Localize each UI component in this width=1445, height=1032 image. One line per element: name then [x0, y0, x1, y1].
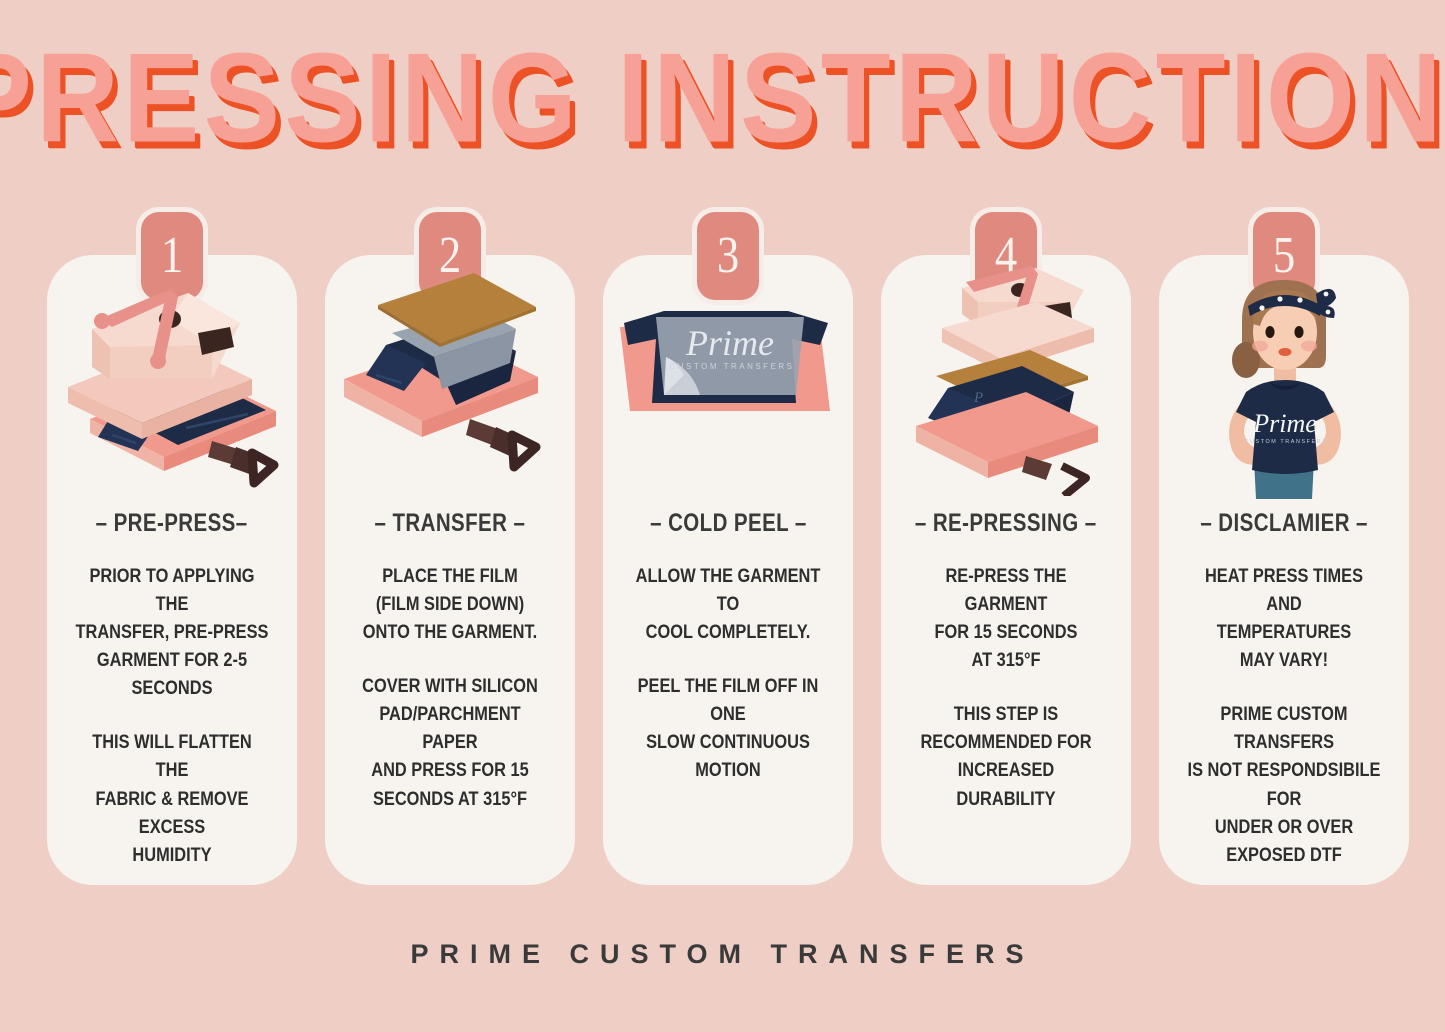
illustration-heat-press-closed [47, 261, 297, 501]
title-bar: PRESSING INSTRUCTIONS [0, 34, 1445, 142]
step-heading-1: – PRE-PRESS– [96, 509, 248, 538]
step-paragraph: PRIOR TO APPLYING THE TRANSFER, PRE-PRES… [75, 562, 270, 702]
svg-text:CUSTOM TRANSFERS: CUSTOM TRANSFERS [1245, 439, 1328, 445]
page-title: PRESSING INSTRUCTIONS [0, 34, 1445, 161]
step-paragraph: PEEL THE FILM OFF IN ONE SLOW CONTINUOUS… [631, 672, 826, 784]
step-body-3: ALLOW THE GARMENT TO COOL COMPLETELY. PE… [612, 562, 844, 785]
svg-text:P: P [973, 390, 983, 406]
step-paragraph: THIS STEP IS RECOMMENDED FOR INCREASED D… [909, 700, 1104, 812]
svg-text:CUSTOM TRANSFERS: CUSTOM TRANSFERS [669, 362, 794, 371]
step-heading-4: – RE-PRESSING – [915, 509, 1097, 538]
illustration-woman-wearing-shirt: Prime CUSTOM TRANSFERS [1159, 261, 1409, 501]
illustration-exploded-press-stack: P [881, 261, 1131, 501]
footer-brand-text: PRIME CUSTOM TRANSFERS [410, 939, 1034, 969]
step-card-2: 2 P [325, 255, 575, 885]
illustration-parchment-over-film: P [325, 261, 575, 501]
step-card-1: 1 [47, 255, 297, 885]
step-paragraph: THIS WILL FLATTEN THE FABRIC & REMOVE EX… [75, 728, 270, 868]
step-heading-5: – DISCLAMIER – [1200, 509, 1367, 538]
step-paragraph: PLACE THE FILM (FILM SIDE DOWN) ONTO THE… [353, 562, 548, 646]
step-paragraph: HEAT PRESS TIMES AND TEMPERATURES MAY VA… [1187, 562, 1382, 674]
step-card-4: 4 [881, 255, 1131, 885]
steps-row: 1 [47, 255, 1399, 885]
step-paragraph: COVER WITH SILICON PAD/PARCHMENT PAPER A… [353, 672, 548, 812]
step-body-4: RE-PRESS THE GARMENT FOR 15 SECONDS AT 3… [890, 562, 1122, 813]
step-paragraph: RE-PRESS THE GARMENT FOR 15 SECONDS AT 3… [909, 562, 1104, 674]
step-body-5: HEAT PRESS TIMES AND TEMPERATURES MAY VA… [1168, 562, 1400, 869]
step-card-5: 5 [1159, 255, 1409, 885]
step-paragraph: ALLOW THE GARMENT TO COOL COMPLETELY. [631, 562, 826, 646]
step-body-2: PLACE THE FILM (FILM SIDE DOWN) ONTO THE… [334, 562, 566, 813]
svg-text:Prime: Prime [685, 323, 774, 363]
step-heading-3: – COLD PEEL – [650, 509, 806, 538]
step-paragraph: PRIME CUSTOM TRANSFERS IS NOT RESPONDSIB… [1187, 700, 1382, 868]
svg-text:Prime: Prime [1252, 409, 1317, 438]
illustration-peeling-film: Prime CUSTOM TRANSFERS [603, 261, 853, 501]
step-body-1: PRIOR TO APPLYING THE TRANSFER, PRE-PRES… [56, 562, 288, 869]
step-heading-2: – TRANSFER – [375, 509, 526, 538]
step-card-3: 3 Prime CUSTOM TRANSFERS – COLD PEEL – A… [603, 255, 853, 885]
footer: PRIME CUSTOM TRANSFERS [0, 939, 1445, 970]
